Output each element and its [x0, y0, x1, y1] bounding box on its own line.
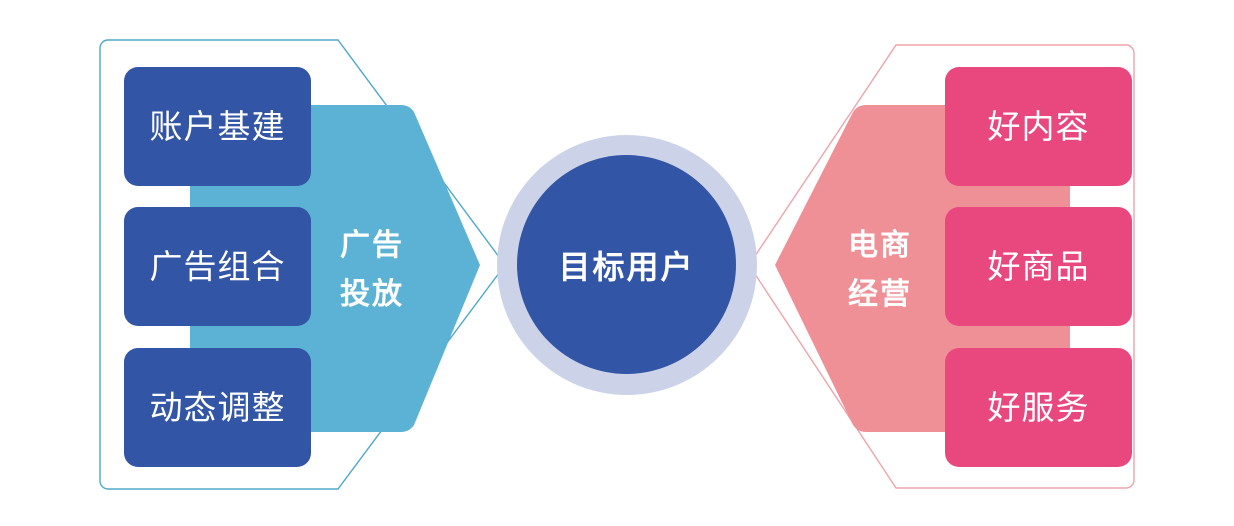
right-arrow-label-line-1: 电商	[848, 221, 912, 271]
right-item-2[interactable]: 好商品	[945, 207, 1132, 326]
right-item-1-label: 好内容	[988, 110, 1090, 143]
diagram-canvas: 账户基建 广告组合 动态调整 广告 投放 目标用户 好内容 好商品 好服务 电商…	[0, 0, 1234, 526]
left-arrow-label: 广告 投放	[312, 215, 432, 325]
right-arrow-label-line-2: 经营	[848, 270, 912, 320]
left-item-2-label: 广告组合	[150, 250, 286, 283]
left-item-3[interactable]: 动态调整	[124, 348, 311, 467]
center-circle[interactable]: 目标用户	[517, 155, 736, 374]
center-circle-label: 目标用户	[558, 242, 694, 288]
right-item-1[interactable]: 好内容	[945, 67, 1132, 186]
right-item-3[interactable]: 好服务	[945, 348, 1132, 467]
right-arrow-label: 电商 经营	[820, 215, 940, 325]
right-item-3-label: 好服务	[988, 391, 1090, 424]
left-item-1-label: 账户基建	[150, 110, 286, 143]
left-item-1[interactable]: 账户基建	[124, 67, 311, 186]
left-item-3-label: 动态调整	[150, 391, 286, 424]
left-arrow-label-line-1: 广告	[340, 221, 404, 271]
left-arrow-label-line-2: 投放	[340, 270, 404, 320]
left-item-2[interactable]: 广告组合	[124, 207, 311, 326]
right-item-2-label: 好商品	[988, 250, 1090, 283]
